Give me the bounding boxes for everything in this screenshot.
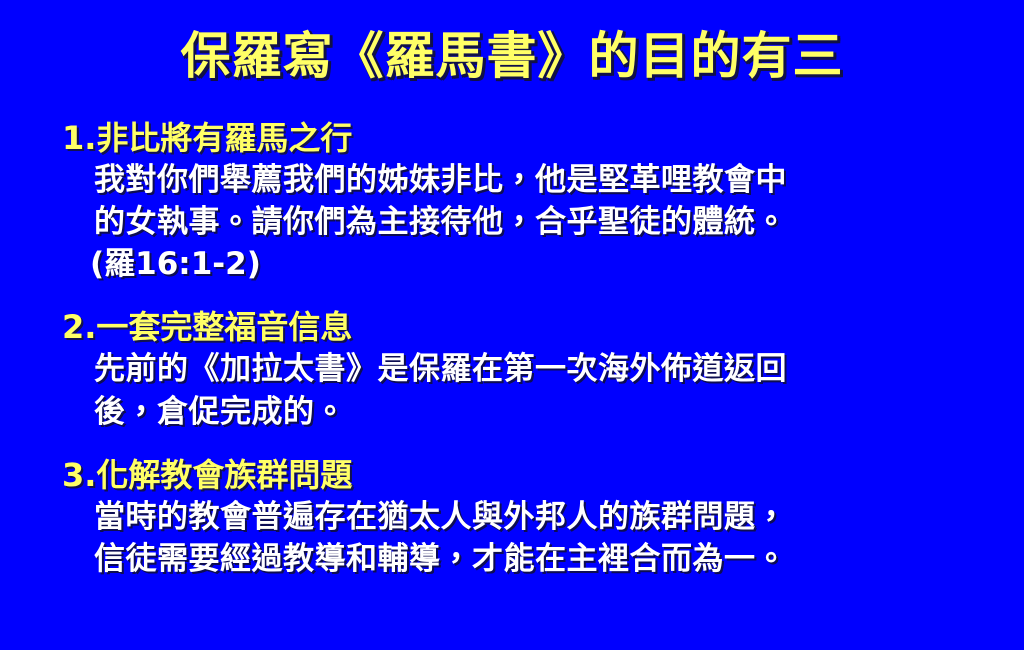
- list-item: 1. 非比將有羅馬之行 我對你們舉薦我們的姊妹非比，他是堅革哩教會中 的女執事。…: [62, 118, 982, 285]
- point-1-title: 非比將有羅馬之行: [96, 118, 352, 159]
- point-2-title: 一套完整福音信息: [96, 307, 352, 348]
- point-3-line-1: 當時的教會普遍存在猶太人與外邦人的族群問題，: [94, 496, 982, 538]
- point-1-number: 1.: [62, 118, 96, 159]
- point-2-line-1: 先前的《加拉太書》是保羅在第一次海外佈道返回: [94, 348, 982, 390]
- point-3-number: 3.: [62, 455, 96, 496]
- point-3-line-2: 信徒需要經過教導和輔導，才能在主裡合而為一。: [94, 538, 982, 580]
- page-title: 保羅寫《羅馬書》的目的有三: [0, 28, 1024, 86]
- points-list: 1. 非比將有羅馬之行 我對你們舉薦我們的姊妹非比，他是堅革哩教會中 的女執事。…: [62, 118, 982, 580]
- point-1-body: 我對你們舉薦我們的姊妹非比，他是堅革哩教會中 的女執事。請你們為主接待他，合乎聖…: [94, 159, 982, 285]
- point-2-body: 先前的《加拉太書》是保羅在第一次海外佈道返回 後，倉促完成的。: [94, 348, 982, 432]
- list-item: 2. 一套完整福音信息 先前的《加拉太書》是保羅在第一次海外佈道返回 後，倉促完…: [62, 307, 982, 432]
- point-3-body: 當時的教會普遍存在猶太人與外邦人的族群問題， 信徒需要經過教導和輔導，才能在主裡…: [94, 496, 982, 580]
- point-1-scripture-reference: (羅16:1-2): [90, 243, 982, 285]
- point-2-line-2: 後，倉促完成的。: [94, 391, 982, 433]
- point-1-line-1: 我對你們舉薦我們的姊妹非比，他是堅革哩教會中: [94, 159, 982, 201]
- point-2-number: 2.: [62, 307, 96, 348]
- point-2-heading: 2. 一套完整福音信息: [62, 307, 982, 348]
- point-3-title: 化解教會族群問題: [96, 455, 352, 496]
- slide-canvas: 保羅寫《羅馬書》的目的有三 1. 非比將有羅馬之行 我對你們舉薦我們的姊妹非比，…: [0, 0, 1024, 650]
- point-3-heading: 3. 化解教會族群問題: [62, 455, 982, 496]
- list-item: 3. 化解教會族群問題 當時的教會普遍存在猶太人與外邦人的族群問題， 信徒需要經…: [62, 455, 982, 580]
- point-1-heading: 1. 非比將有羅馬之行: [62, 118, 982, 159]
- point-1-line-2: 的女執事。請你們為主接待他，合乎聖徒的體統。: [94, 201, 982, 243]
